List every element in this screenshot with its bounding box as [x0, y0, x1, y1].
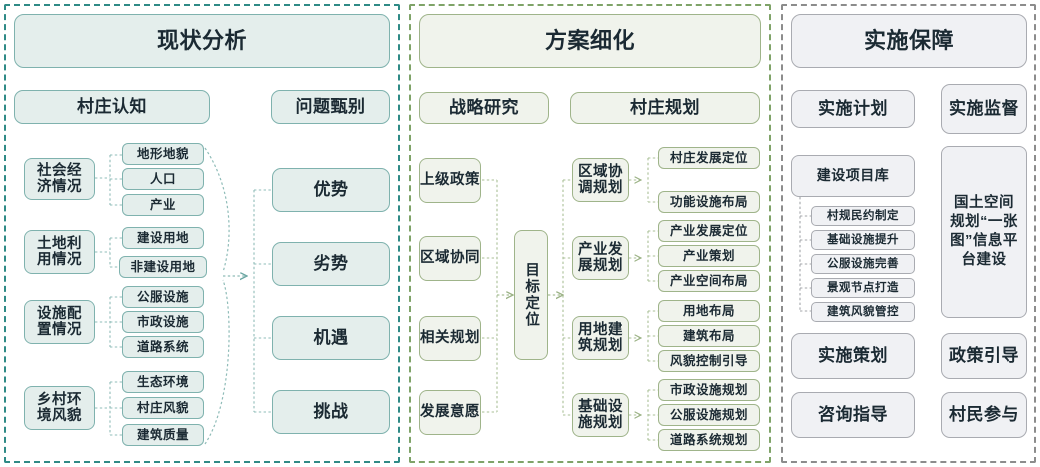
leaf-functional-facility-layout[interactable]: 功能设施布局 — [658, 191, 760, 213]
item-landscape-node-creation[interactable]: 景观节点打造 — [811, 278, 915, 298]
leaf-public-service-facility[interactable]: 公服设施 — [122, 286, 204, 308]
group-header-implementation-plan[interactable]: 实施计划 — [791, 90, 915, 128]
branch-land-use[interactable]: 土地利用情况 — [24, 230, 95, 274]
input-development-will[interactable]: 发展意愿 — [419, 390, 481, 435]
branch-infrastructure-plan[interactable]: 基础设施规划 — [572, 393, 629, 437]
extra-villager-participation[interactable]: 村民参与 — [941, 392, 1027, 438]
branch-facilities[interactable]: 设施配置情况 — [24, 300, 95, 344]
leaf-public-service-facility-plan[interactable]: 公服设施规划 — [658, 404, 760, 426]
leaf-industry-planning[interactable]: 产业策划 — [658, 245, 760, 267]
main-land-space-one-map-platform[interactable]: 国土空间规划“一张图”信息平台建设 — [941, 146, 1027, 318]
item-village-rules[interactable]: 村规民约制定 — [811, 206, 915, 226]
leaf-municipal-facility[interactable]: 市政设施 — [122, 311, 204, 333]
leaf-population[interactable]: 人口 — [122, 168, 204, 190]
group-header-village-cognition[interactable]: 村庄认知 — [14, 90, 210, 124]
output-challenge[interactable]: 挑战 — [272, 390, 390, 434]
output-opportunity[interactable]: 机遇 — [272, 316, 390, 360]
item-architectural-style-control[interactable]: 建筑风貌管控 — [811, 302, 915, 322]
extra-implementation-planning[interactable]: 实施策划 — [791, 333, 915, 379]
branch-socioeconomic[interactable]: 社会经济情况 — [24, 158, 95, 200]
leaf-construction-land[interactable]: 建设用地 — [122, 227, 204, 249]
extra-consulting-guidance[interactable]: 咨询指导 — [791, 392, 915, 438]
group-header-village-planning[interactable]: 村庄规划 — [570, 92, 760, 124]
branch-rural-environment[interactable]: 乡村环境风貌 — [24, 386, 95, 430]
column-title-implementation-guarantee: 实施保障 — [791, 14, 1027, 68]
leaf-industry-spatial-layout[interactable]: 产业空间布局 — [658, 270, 760, 292]
leaf-industry-development-positioning[interactable]: 产业发展定位 — [658, 220, 760, 242]
item-public-service-improvement[interactable]: 公服设施完善 — [811, 254, 915, 274]
output-strength[interactable]: 优势 — [272, 168, 390, 212]
leaf-village-development-positioning[interactable]: 村庄发展定位 — [658, 147, 760, 169]
leaf-terrain[interactable]: 地形地貌 — [122, 143, 204, 165]
output-weakness[interactable]: 劣势 — [272, 242, 390, 286]
input-regional-coordination[interactable]: 区域协同 — [419, 236, 481, 281]
leaf-land-layout[interactable]: 用地布局 — [658, 300, 760, 322]
leaf-industry[interactable]: 产业 — [122, 194, 204, 216]
column-title-current-situation: 现状分析 — [14, 14, 390, 68]
group-header-implementation-supervision[interactable]: 实施监督 — [941, 84, 1027, 134]
hub-goal-positioning-label: 目标定位 — [523, 262, 539, 328]
branch-regional-coordination-plan[interactable]: 区域协调规划 — [572, 158, 629, 202]
leaf-building-layout[interactable]: 建筑布局 — [658, 325, 760, 347]
group-header-problem-identification[interactable]: 问题甄别 — [271, 90, 390, 124]
hub-goal-positioning[interactable]: 目标定位 — [514, 230, 548, 360]
leaf-village-style[interactable]: 村庄风貌 — [122, 397, 204, 419]
extra-policy-guidance[interactable]: 政策引导 — [941, 333, 1027, 379]
item-infrastructure-upgrade[interactable]: 基础设施提升 — [811, 230, 915, 250]
leaf-ecology[interactable]: 生态环境 — [122, 371, 204, 393]
leaf-non-construction-land[interactable]: 非建设用地 — [119, 256, 207, 278]
leaf-road-system-plan[interactable]: 道路系统规划 — [658, 429, 760, 451]
diagram-board: 现状分析 村庄认知 问题甄别 社会经济情况 土地利用情况 设施配置情况 乡村环境… — [0, 0, 1040, 467]
input-upper-level-policy[interactable]: 上级政策 — [419, 158, 481, 203]
leaf-building-quality[interactable]: 建筑质量 — [122, 424, 204, 446]
group-header-strategy-research[interactable]: 战略研究 — [419, 92, 549, 124]
main-construction-project-library[interactable]: 建设项目库 — [791, 155, 915, 197]
leaf-style-control-guidance[interactable]: 风貌控制引导 — [658, 350, 760, 372]
branch-land-building-plan[interactable]: 用地建筑规划 — [572, 316, 629, 360]
leaf-municipal-facility-plan[interactable]: 市政设施规划 — [658, 379, 760, 401]
branch-industry-development-plan[interactable]: 产业发展规划 — [572, 236, 629, 280]
column-title-plan-detailing: 方案细化 — [419, 14, 761, 68]
input-related-plans[interactable]: 相关规划 — [419, 316, 481, 361]
leaf-road-system[interactable]: 道路系统 — [122, 336, 204, 358]
